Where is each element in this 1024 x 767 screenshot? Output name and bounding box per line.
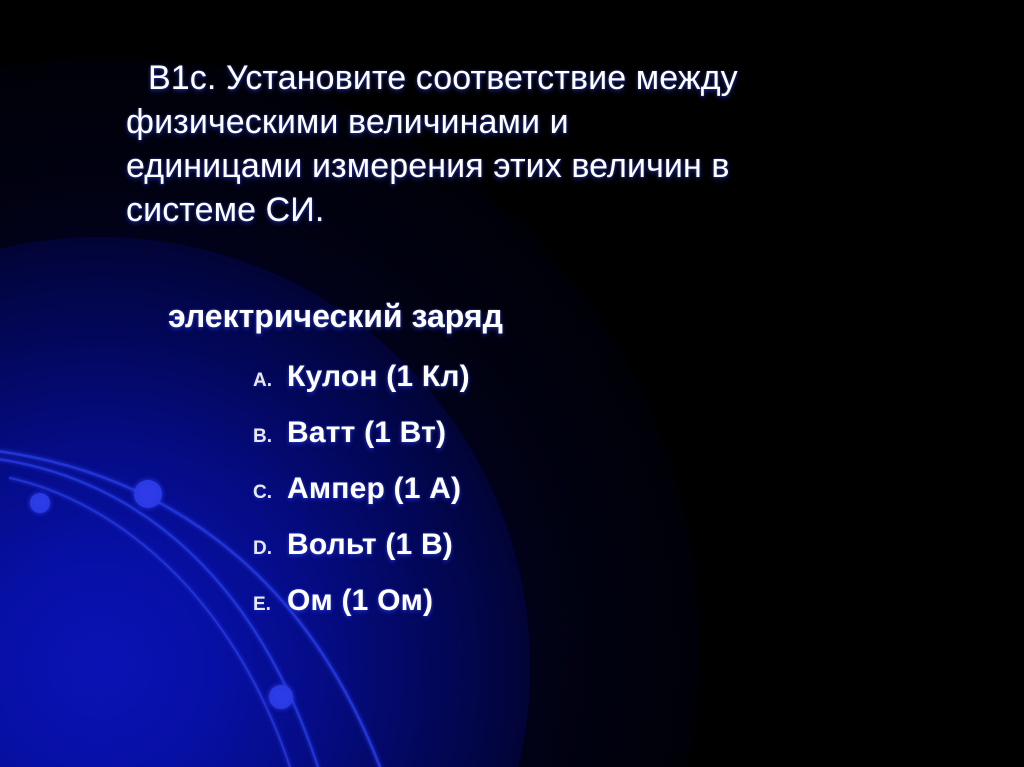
option-a[interactable]: A. Кулон (1 Кл) [253, 362, 470, 418]
title-line-3: единицами измерения этих величин в [126, 144, 986, 188]
slide-canvas: B1c. Установите соответствие между физич… [0, 0, 1024, 767]
slide-content: B1c. Установите соответствие между физич… [0, 0, 1024, 767]
option-text-d: Вольт (1 В) [287, 530, 453, 560]
option-d[interactable]: D. Вольт (1 В) [253, 530, 470, 586]
title-line-4: системе СИ. [126, 188, 986, 232]
option-text-c: Ампер (1 А) [287, 474, 461, 504]
option-marker-d: D. [253, 534, 287, 564]
option-marker-c: C. [253, 478, 287, 508]
answer-options-list: A. Кулон (1 Кл) B. Ватт (1 Вт) C. Ампер … [253, 362, 470, 642]
option-marker-a: A. [253, 366, 287, 396]
title-line-1: B1c. Установите соответствие между [126, 56, 986, 100]
option-marker-b: B. [253, 422, 287, 452]
title-line-2: физическими величинами и [126, 100, 986, 144]
question-title: B1c. Установите соответствие между физич… [126, 56, 986, 232]
quantity-label: электрический заряд [168, 296, 503, 336]
option-b[interactable]: B. Ватт (1 Вт) [253, 418, 470, 474]
option-marker-e: E. [253, 590, 287, 620]
option-text-e: Ом (1 Ом) [287, 586, 433, 616]
option-text-b: Ватт (1 Вт) [287, 418, 446, 448]
option-e[interactable]: E. Ом (1 Ом) [253, 586, 470, 642]
option-c[interactable]: C. Ампер (1 А) [253, 474, 470, 530]
option-text-a: Кулон (1 Кл) [287, 362, 470, 392]
